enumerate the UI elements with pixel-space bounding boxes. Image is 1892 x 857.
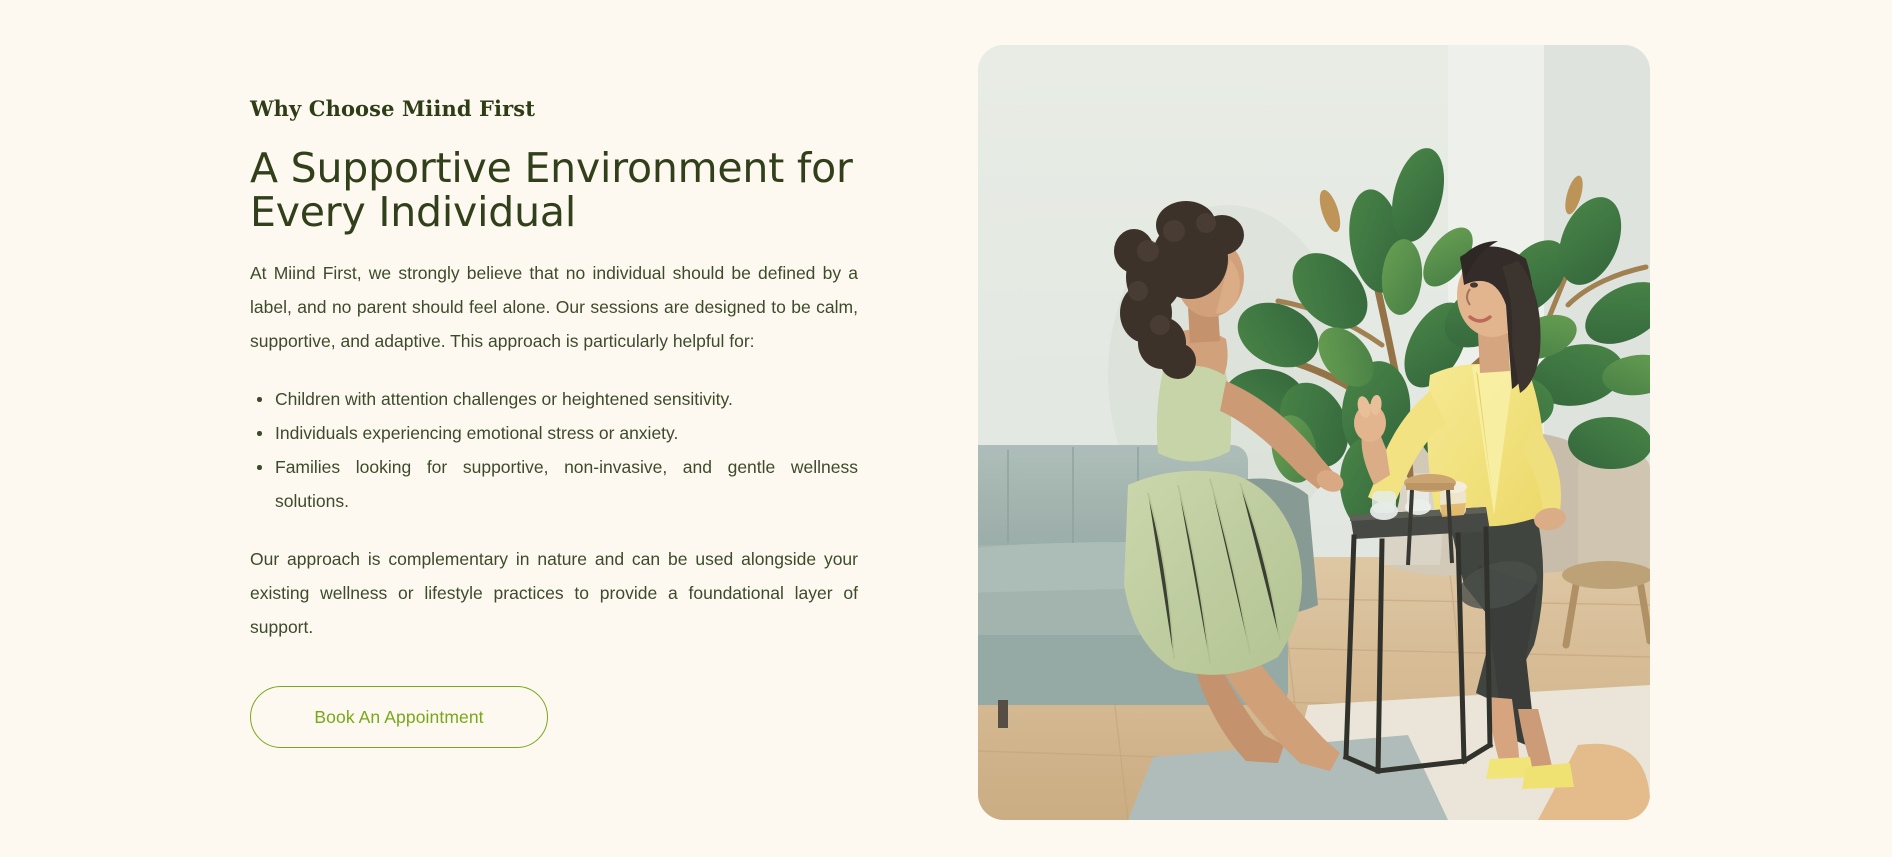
book-appointment-button[interactable]: Book An Appointment [250, 686, 548, 748]
bullet-icon [257, 397, 262, 402]
bullet-icon [257, 431, 262, 436]
intro-paragraph: At Miind First, we strongly believe that… [250, 256, 858, 358]
list-item-label: Families looking for supportive, non-inv… [275, 457, 858, 511]
list-item-label: Children with attention challenges or he… [275, 389, 733, 409]
content-column: Why Choose Miind First A Supportive Envi… [250, 96, 858, 748]
list-item-label: Individuals experiencing emotional stres… [275, 423, 678, 443]
session-photo-illustration [978, 45, 1650, 820]
list-item: Individuals experiencing emotional stres… [250, 416, 858, 450]
section-eyebrow: Why Choose Miind First [250, 96, 858, 121]
list-item: Children with attention challenges or he… [250, 382, 858, 416]
closing-paragraph: Our approach is complementary in nature … [250, 542, 858, 644]
session-photo [978, 45, 1650, 820]
list-item: Families looking for supportive, non-inv… [250, 450, 858, 518]
benefits-list: Children with attention challenges or he… [250, 382, 858, 518]
bullet-icon [257, 465, 262, 470]
why-choose-section: Why Choose Miind First A Supportive Envi… [0, 0, 1892, 857]
section-headline: A Supportive Environment for Every Indiv… [250, 147, 858, 234]
